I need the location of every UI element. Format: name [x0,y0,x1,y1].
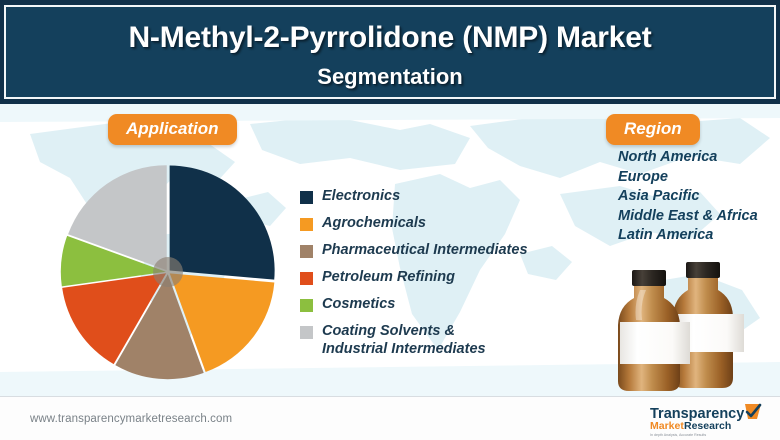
legend-item-petroleum-refining: Petroleum Refining [300,269,528,287]
legend-label: Electronics [322,188,400,206]
region-item-asia-pacific: Asia Pacific [618,187,758,207]
logo-word-market: Market [650,420,684,432]
header-inner-frame: N-Methyl-2-Pyrrolidone (NMP) Market Segm… [4,5,776,99]
legend-item-coating-solvents: Coating Solvents & Industrial Intermedia… [300,323,528,358]
region-item-north-america: North America [618,148,758,168]
header-banner: N-Methyl-2-Pyrrolidone (NMP) Market Segm… [0,0,780,104]
legend-item-pharmaceutical-intermediates: Pharmaceutical Intermediates [300,242,528,260]
legend-label: Agrochemicals [322,215,426,233]
logo-tagline: In depth Analysis, Accurate Results [650,433,706,437]
legend-label: Pharmaceutical Intermediates [322,242,528,260]
legend-label: Coating Solvents & Industrial Intermedia… [322,323,486,358]
legend-item-agrochemicals: Agrochemicals [300,215,528,233]
region-item-latin-america: Latin America [618,226,758,246]
pie-slice [170,166,275,280]
legend-item-cosmetics: Cosmetics [300,296,528,314]
region-list: North America Europe Asia Pacific Middle… [618,148,758,246]
page-title: N-Methyl-2-Pyrrolidone (NMP) Market [6,21,774,55]
chemical-bottles-illustration [600,262,780,396]
legend-swatch-icon [300,299,313,312]
legend-swatch-icon [300,245,313,258]
application-badge: Application [108,114,237,145]
logo-word-research: Research [684,420,731,432]
pie-center-hub [153,257,183,287]
legend-swatch-icon [300,272,313,285]
checkmark-icon [745,404,761,419]
footer-website-url[interactable]: www.transparencymarketresearch.com [30,413,232,425]
legend-label: Petroleum Refining [322,269,455,287]
legend-swatch-icon [300,191,313,204]
legend-swatch-icon [300,326,313,339]
region-item-europe: Europe [618,168,758,188]
region-badge: Region [606,114,700,145]
pie-legend: Electronics Agrochemicals Pharmaceutical… [300,188,528,368]
legend-swatch-icon [300,218,313,231]
application-pie-chart [55,158,285,388]
pie-svg [55,158,285,388]
page-subtitle: Segmentation [6,64,774,90]
legend-item-electronics: Electronics [300,188,528,206]
region-item-middle-east-africa: Middle East & Africa [618,207,758,227]
legend-label: Cosmetics [322,296,395,314]
bottle-front [618,270,690,391]
footer-bar: www.transparencymarketresearch.com Trans… [0,396,780,440]
transparency-market-research-logo: Transparency Market Research In depth An… [650,402,766,438]
